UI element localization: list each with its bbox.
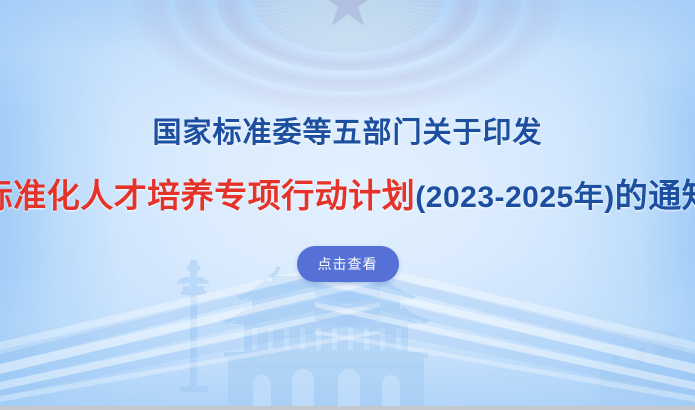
banner-title-line-1: 国家标准委等五部门关于印发: [152, 118, 542, 150]
banner-title-years: (2023-2025年): [415, 181, 614, 214]
notice-banner: 国家标准委等五部门关于印发 标准化人才培养专项行动计划(2023-2025年)的…: [0, 0, 695, 406]
view-detail-button[interactable]: 点击查看: [297, 246, 399, 282]
banner-content: 国家标准委等五部门关于印发 标准化人才培养专项行动计划(2023-2025年)的…: [0, 0, 695, 406]
banner-title-tail: 的通知: [615, 177, 695, 214]
banner-title-line-2: 标准化人才培养专项行动计划(2023-2025年)的通知: [0, 178, 695, 214]
banner-title-highlight: 标准化人才培养专项行动计划: [0, 177, 415, 214]
